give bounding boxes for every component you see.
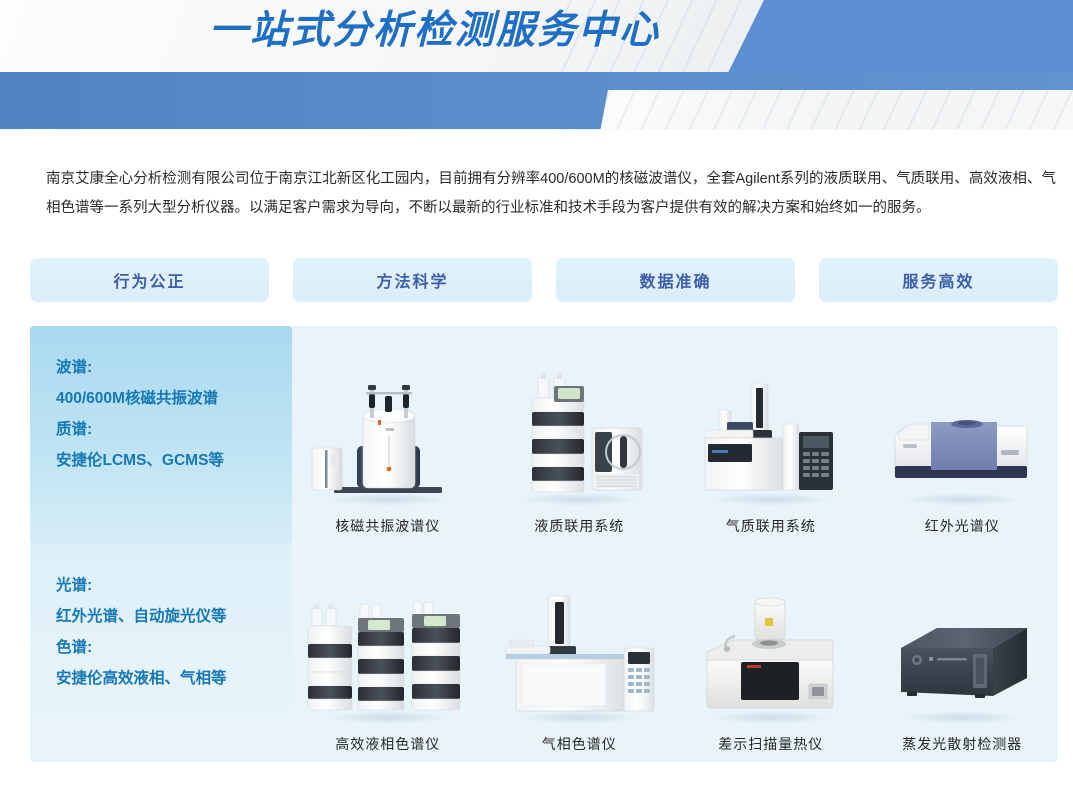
instrument-cell-elsd[interactable]: 蒸发光散射检测器 [867, 544, 1059, 762]
lcms-shadow [519, 493, 639, 506]
instrument-caption-dsc: 差示扫描量热仪 [718, 734, 823, 754]
instrument-cell-dsc[interactable]: 差示扫描量热仪 [675, 544, 867, 762]
instrument-cell-gcms[interactable]: 气质联用系统 [675, 326, 867, 544]
nmr-shadow [328, 493, 448, 506]
instrument-cell-hplc[interactable]: 高效液相色谱仪 [292, 544, 484, 762]
category-block-optical-chromatography: 光谱: 红外光谱、自动旋光仪等 色谱: 安捷伦高效液相、气相等 [30, 544, 292, 762]
ftir-shadow [902, 493, 1022, 506]
instrument-caption-nmr: 核磁共振波谱仪 [335, 516, 440, 536]
category-value-optical: 红外光谱、自动旋光仪等 [56, 601, 292, 632]
instrument-caption-elsd: 蒸发光散射检测器 [902, 734, 1022, 754]
page-root: 一站式分析检测服务中心 南京艾康全心分析检测有限公司位于南京江北新区化工园内，目… [0, 0, 1073, 786]
instrument-caption-gc: 气相色谱仪 [542, 734, 617, 754]
category-label-chroma: 色谱: [56, 632, 292, 663]
instrument-cell-ftir[interactable]: 红外光谱仪 [867, 326, 1059, 544]
instrument-cell-gc[interactable]: 气相色谱仪 [484, 544, 676, 762]
instrument-grid: 核磁共振波谱仪 [292, 326, 1058, 762]
category-value-ms: 安捷伦LCMS、GCMS等 [56, 445, 292, 476]
page-banner: 一站式分析检测服务中心 [0, 0, 1073, 130]
instrument-panel: 波谱: 400/600M核磁共振波谱 质谱: 安捷伦LCMS、GCMS等 光谱:… [30, 326, 1058, 762]
category-label-ms: 质谱: [56, 414, 292, 445]
dsc-icon [683, 588, 858, 728]
banner-blue-wedge [723, 0, 1073, 83]
banner-notch-stripes [600, 90, 1073, 130]
ftir-spectrometer-icon [875, 370, 1050, 510]
gc-icon [492, 588, 667, 728]
hplc-icon [300, 588, 475, 728]
feature-pill-data[interactable]: 数据准确 [556, 258, 795, 302]
instrument-caption-ftir: 红外光谱仪 [925, 516, 1000, 536]
category-label-optical: 光谱: [56, 570, 292, 601]
nmr-spectrometer-icon [300, 370, 475, 510]
category-value-chroma: 安捷伦高效液相、气相等 [56, 663, 292, 694]
lcms-system-icon [492, 370, 667, 510]
feature-pill-row: 行为公正 方法科学 数据准确 服务高效 [30, 258, 1058, 302]
intro-paragraph: 南京艾康全心分析检测有限公司位于南京江北新区化工园内，目前拥有分辨率400/60… [46, 165, 1056, 223]
instrument-cell-lcms[interactable]: 液质联用系统 [484, 326, 676, 544]
hplc-shadow [328, 711, 448, 724]
instrument-caption-hplc: 高效液相色谱仪 [335, 734, 440, 754]
category-label-boputext: 波谱: [56, 352, 292, 383]
feature-pill-fairness[interactable]: 行为公正 [30, 258, 269, 302]
gc-shadow [519, 711, 639, 724]
elsd-shadow [902, 711, 1022, 724]
feature-pill-service[interactable]: 服务高效 [819, 258, 1058, 302]
instrument-cell-nmr[interactable]: 核磁共振波谱仪 [292, 326, 484, 544]
instrument-caption-lcms: 液质联用系统 [534, 516, 624, 536]
instrument-caption-gcms: 气质联用系统 [726, 516, 816, 536]
dsc-shadow [711, 711, 831, 724]
gcms-shadow [711, 493, 831, 506]
gcms-system-icon [683, 370, 858, 510]
page-title: 一站式分析检测服务中心 [0, 6, 660, 56]
category-value-nmr: 400/600M核磁共振波谱 [56, 383, 292, 414]
feature-pill-method[interactable]: 方法科学 [293, 258, 532, 302]
category-block-spectroscopy-ms: 波谱: 400/600M核磁共振波谱 质谱: 安捷伦LCMS、GCMS等 [30, 326, 292, 544]
elsd-icon [875, 588, 1050, 728]
